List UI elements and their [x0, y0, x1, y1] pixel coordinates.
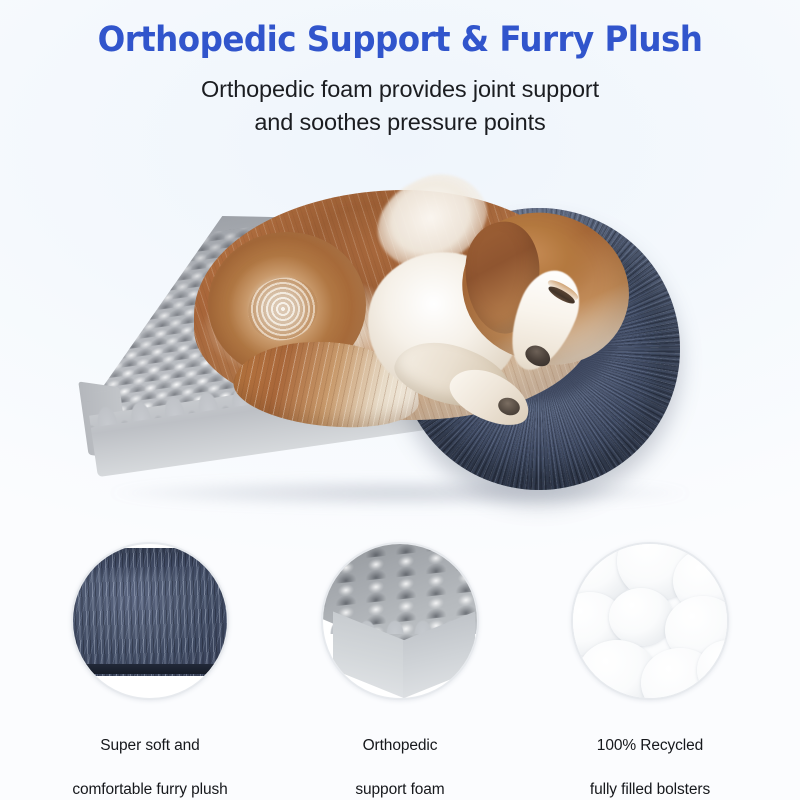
plush-swatch-base-edge	[71, 664, 229, 674]
recycled-fiberfill-swatch-icon	[571, 542, 729, 700]
egg-crate-foam-swatch-icon	[321, 542, 479, 700]
fiberfill-puff	[609, 588, 673, 646]
feature-caption: Super soft and comfortable furry plush	[36, 713, 264, 800]
header: Orthopedic Support & Furry Plush Orthope…	[0, 0, 800, 139]
product-infographic: Orthopedic Support & Furry Plush Orthope…	[0, 0, 800, 800]
dog-rump-fur-swirl	[240, 269, 326, 350]
feature-furry-plush: Super soft and comfortable furry plush	[36, 542, 264, 800]
feature-caption-line-2: comfortable furry plush	[72, 781, 227, 798]
plush-swatch-fur-texture	[71, 548, 229, 676]
feature-orthopedic-foam: Orthopedic support foam	[286, 542, 514, 800]
feature-caption: Orthopedic support foam	[286, 713, 514, 800]
feature-caption-line-2: support foam	[355, 781, 444, 798]
page-title: Orthopedic Support & Furry Plush	[28, 21, 772, 60]
feature-caption-line-2: fully filled bolsters	[590, 781, 710, 798]
plush-fabric-swatch	[71, 548, 229, 676]
feature-caption-line-1: Super soft and	[100, 737, 199, 754]
feature-caption-line-1: 100% Recycled	[597, 737, 703, 754]
subtitle-line-2: and soothes pressure points	[0, 107, 800, 138]
subtitle-line-1: Orthopedic foam provides joint support	[0, 74, 800, 105]
fiberfill-swatch	[573, 544, 727, 698]
feature-caption-line-1: Orthopedic	[363, 737, 438, 754]
page-subtitle: Orthopedic foam provides joint support a…	[0, 74, 800, 139]
feature-caption: 100% Recycled fully filled bolsters	[536, 713, 764, 800]
feature-highlights: Super soft and comfortable furry plush O…	[0, 542, 800, 800]
furry-plush-swatch-icon	[71, 542, 229, 700]
feature-recycled-fill: 100% Recycled fully filled bolsters	[536, 542, 764, 800]
sleeping-dog	[180, 160, 690, 460]
hero-product-image	[0, 160, 800, 530]
